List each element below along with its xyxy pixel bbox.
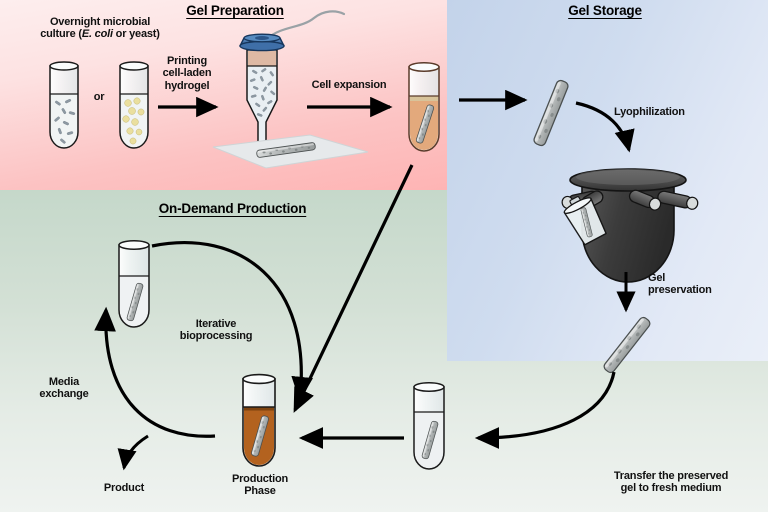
arrow-media-exchange <box>106 310 215 436</box>
bioprinter <box>240 11 344 146</box>
gel-strip-lyophilized <box>602 316 651 374</box>
gel-strip-hydrated <box>533 79 570 147</box>
tube-ecoli <box>50 62 78 150</box>
tube-iterative-bioprocessing <box>119 241 149 336</box>
diagram-vector-layer <box>0 0 768 512</box>
arrow-expansion-to-production <box>295 165 412 410</box>
tube-yeast <box>120 62 148 150</box>
tube-fresh-medium <box>414 383 444 472</box>
arrow-transfer-to-medium <box>478 372 614 438</box>
tube-production-phase <box>243 375 275 471</box>
arrow-lyophilization <box>576 103 629 150</box>
lyophilizer <box>561 169 699 282</box>
figure-canvas: Gel Preparation Gel Storage On-Demand Pr… <box>0 0 768 512</box>
tube-expansion <box>409 63 439 156</box>
arrow-product <box>124 436 148 468</box>
arrow-iterative-bioprocessing <box>152 243 301 398</box>
